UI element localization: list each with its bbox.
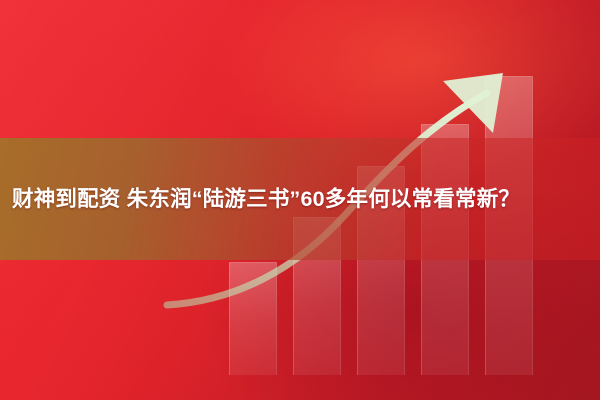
promo-banner: 财神到配资 朱东润“陆游三书”60多年何以常看常新？ [0,0,600,400]
headline-text: 财神到配资 朱东润“陆游三书”60多年何以常看常新？ [12,181,588,217]
headline-overlay-strip: 财神到配资 朱东润“陆游三书”60多年何以常看常新？ [0,138,600,260]
chart-bar-1 [229,262,277,375]
